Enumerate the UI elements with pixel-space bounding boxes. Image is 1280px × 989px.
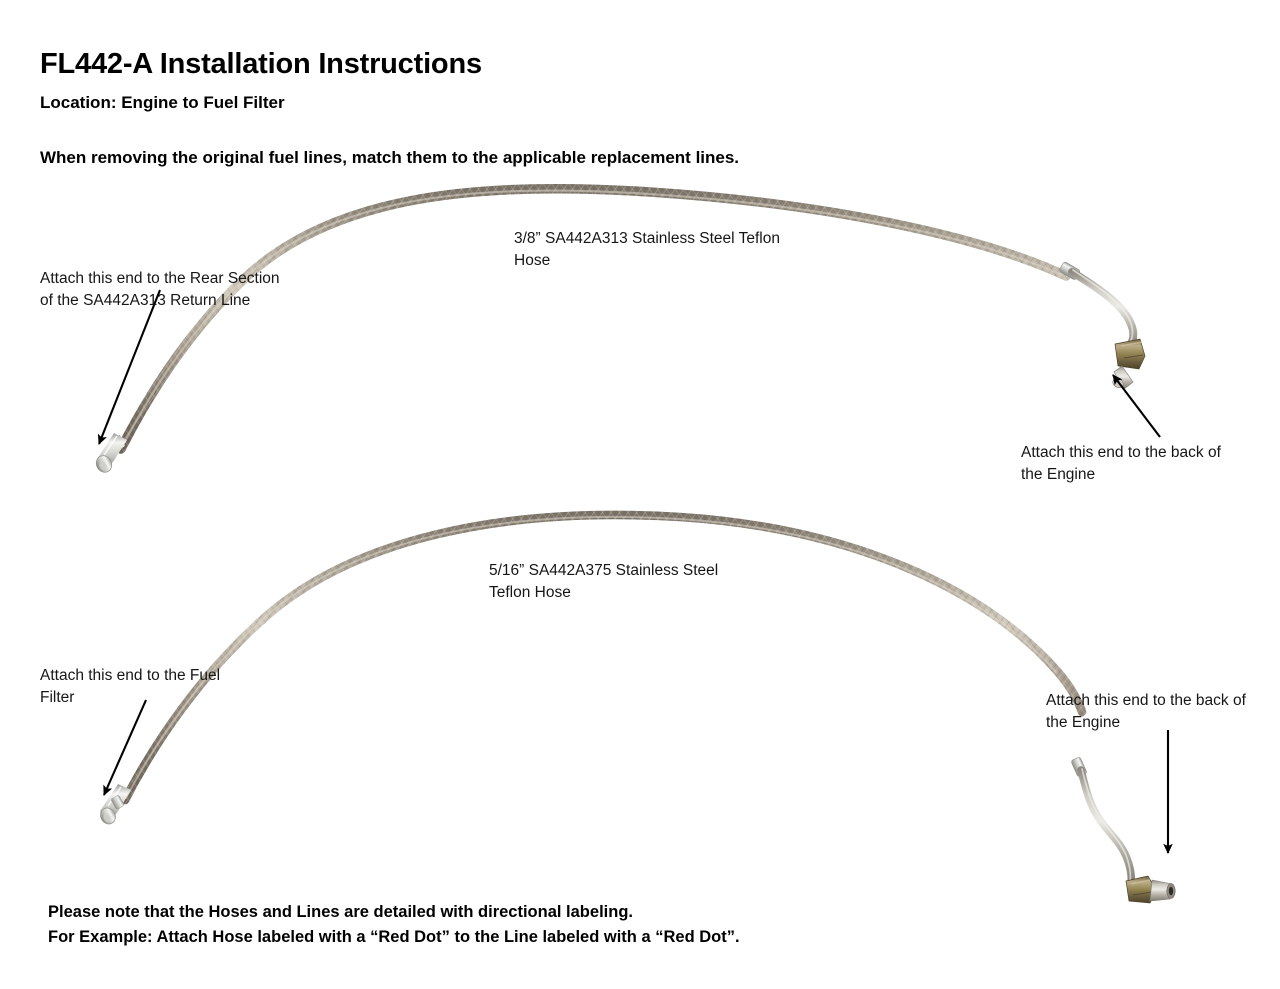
lower-hose-braid bbox=[125, 515, 1082, 800]
lower-hose-right-fitting bbox=[1126, 876, 1175, 903]
upper-hose-left-fitting bbox=[93, 433, 127, 475]
upper-hose-right-callout-line1: Attach this end to the back of bbox=[1021, 442, 1221, 464]
upper-hose-label-line2: Hose bbox=[514, 250, 780, 272]
lower-hose-label-line2: Teflon Hose bbox=[489, 582, 718, 604]
upper-hose-label-line1: 3/8” SA442A313 Stainless Steel Teflon bbox=[514, 228, 780, 250]
lower-hose-right-callout: Attach this end to the back of the Engin… bbox=[1046, 690, 1246, 734]
lower-hose-left-callout-line1: Attach this end to the Fuel bbox=[40, 665, 220, 687]
upper-hose-hardline bbox=[1072, 270, 1133, 349]
lower-hose-left-callout-line2: Filter bbox=[40, 687, 220, 709]
lower-hose-right-callout-line1: Attach this end to the back of bbox=[1046, 690, 1246, 712]
lower-hose-right-callout-line2: the Engine bbox=[1046, 712, 1246, 734]
lower-left-callout-arrow bbox=[104, 700, 146, 795]
upper-hose-left-callout: Attach this end to the Rear Section of t… bbox=[40, 268, 280, 312]
installation-instructions-page: FL442-A Installation Instructions Locati… bbox=[0, 0, 1280, 989]
lower-hose-left-fitting bbox=[98, 784, 131, 827]
upper-right-callout-arrow bbox=[1113, 375, 1160, 437]
footer-note-line2: For Example: Attach Hose labeled with a … bbox=[48, 928, 740, 947]
lower-hose-hardline bbox=[1081, 769, 1131, 884]
lower-hose-label-line1: 5/16” SA442A375 Stainless Steel bbox=[489, 560, 718, 582]
upper-left-callout-arrow bbox=[99, 290, 160, 444]
lower-hose-right-collar bbox=[1071, 757, 1087, 778]
upper-hose-right-callout: Attach this end to the back of the Engin… bbox=[1021, 442, 1221, 486]
upper-hose-right-callout-line2: the Engine bbox=[1021, 464, 1221, 486]
page-title: FL442-A Installation Instructions bbox=[40, 48, 482, 81]
lower-hose-label: 5/16” SA442A375 Stainless Steel Teflon H… bbox=[489, 560, 718, 604]
upper-hose-left-callout-line1: Attach this end to the Rear Section bbox=[40, 268, 280, 290]
main-instruction: When removing the original fuel lines, m… bbox=[40, 148, 739, 168]
footer-note-line1: Please note that the Hoses and Lines are… bbox=[48, 903, 633, 922]
lower-hose-left-callout: Attach this end to the Fuel Filter bbox=[40, 665, 220, 709]
upper-hose-label: 3/8” SA442A313 Stainless Steel Teflon Ho… bbox=[514, 228, 780, 272]
upper-hose-right-fitting bbox=[1111, 339, 1145, 390]
location-subtitle: Location: Engine to Fuel Filter bbox=[40, 93, 285, 113]
upper-hose-left-callout-line2: of the SA442A313 Return Line bbox=[40, 290, 280, 312]
upper-hose-right-collar bbox=[1059, 261, 1081, 280]
